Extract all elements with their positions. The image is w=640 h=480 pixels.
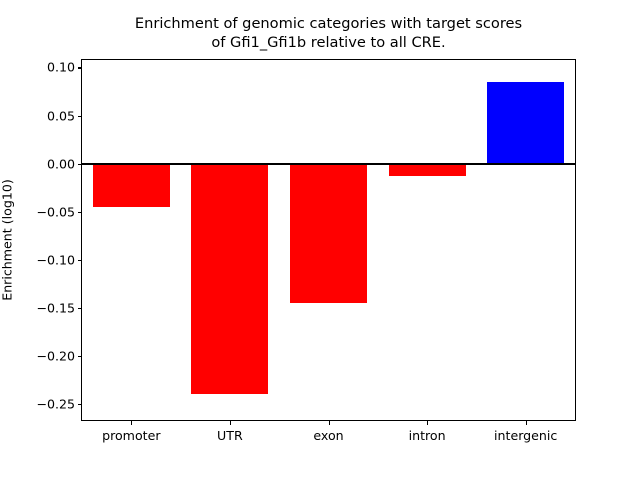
y-tick-mark bbox=[78, 260, 83, 261]
y-tick-label: 0.05 bbox=[47, 108, 75, 123]
y-tick-mark bbox=[78, 164, 83, 165]
y-tick-label: −0.15 bbox=[36, 300, 75, 315]
y-tick-label: −0.05 bbox=[36, 204, 75, 219]
y-tick-mark bbox=[78, 67, 83, 68]
x-tick-mark bbox=[329, 420, 330, 425]
plot-area: promoterUTRexonintronintergenic0.100.050… bbox=[81, 59, 576, 421]
bar-promoter bbox=[93, 164, 170, 207]
y-axis-label: Enrichment (log10) bbox=[0, 179, 15, 301]
x-tick-label-utr: UTR bbox=[217, 428, 243, 443]
y-tick-mark bbox=[78, 404, 83, 405]
y-tick-mark bbox=[78, 356, 83, 357]
y-tick-label: 0.00 bbox=[47, 156, 75, 171]
bar-intergenic bbox=[487, 82, 564, 164]
matplotlib-figure: Enrichment of genomic categories with ta… bbox=[0, 0, 640, 480]
x-tick-label-intergenic: intergenic bbox=[494, 428, 557, 443]
x-tick-mark bbox=[526, 420, 527, 425]
x-tick-mark bbox=[427, 420, 428, 425]
y-tick-label: −0.25 bbox=[36, 396, 75, 411]
x-tick-label-exon: exon bbox=[313, 428, 343, 443]
bar-intron bbox=[389, 164, 466, 176]
bar-exon bbox=[290, 164, 367, 303]
y-tick-mark bbox=[78, 212, 83, 213]
y-tick-label: −0.10 bbox=[36, 252, 75, 267]
bars-layer bbox=[82, 60, 575, 420]
y-tick-mark bbox=[78, 308, 83, 309]
x-tick-mark bbox=[230, 420, 231, 425]
y-tick-label: −0.20 bbox=[36, 348, 75, 363]
x-tick-label-intron: intron bbox=[409, 428, 446, 443]
y-tick-mark bbox=[78, 116, 83, 117]
x-tick-label-promoter: promoter bbox=[102, 428, 160, 443]
bar-utr bbox=[191, 164, 268, 395]
zero-baseline bbox=[82, 163, 575, 165]
y-tick-label: 0.10 bbox=[47, 60, 75, 75]
x-tick-mark bbox=[131, 420, 132, 425]
chart-title: Enrichment of genomic categories with ta… bbox=[81, 14, 576, 52]
